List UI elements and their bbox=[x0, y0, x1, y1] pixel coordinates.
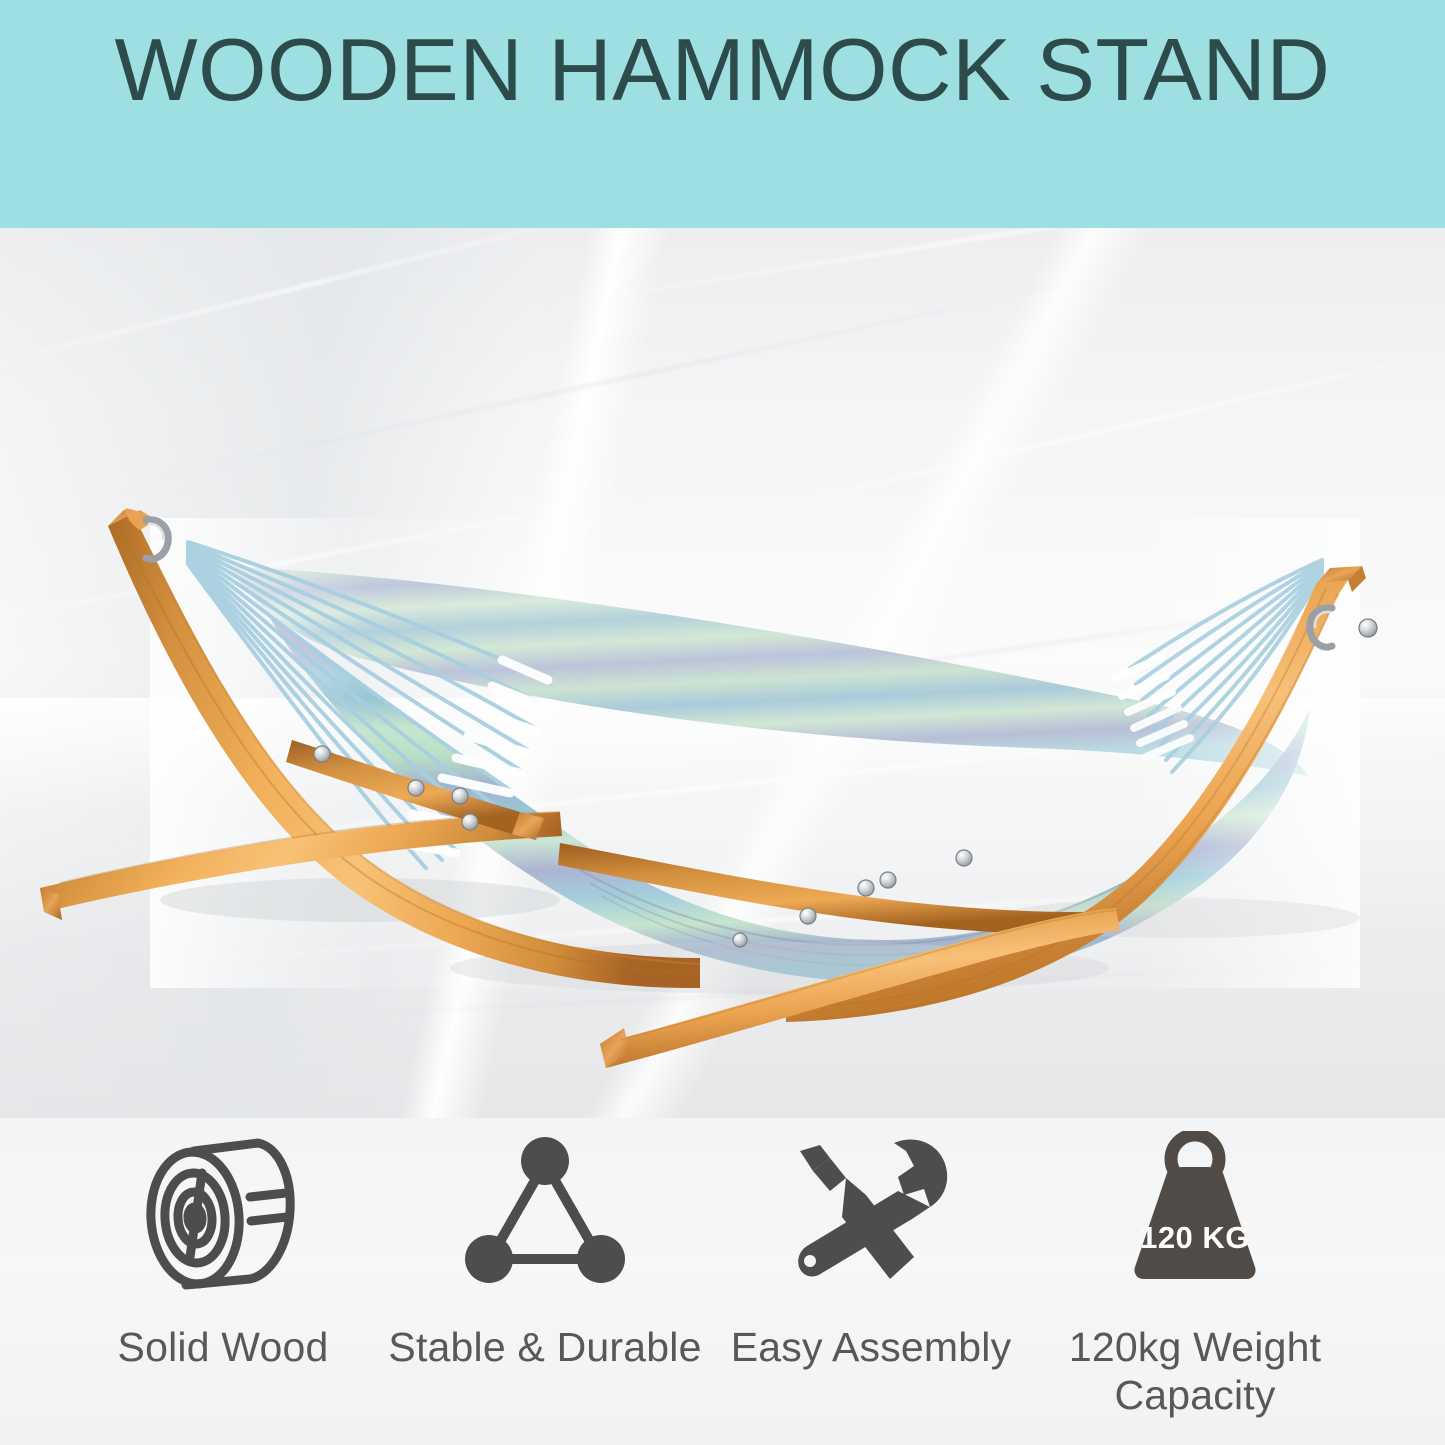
weight-badge-text: 120 KG bbox=[1140, 1220, 1250, 1255]
feature-label: Easy Assembly bbox=[706, 1323, 1036, 1371]
triangle-nodes-icon bbox=[380, 1128, 710, 1298]
feature-item-solid-wood: Solid Wood bbox=[58, 1118, 388, 1445]
feature-label: Solid Wood bbox=[58, 1323, 388, 1371]
wrench-screwdriver-icon bbox=[706, 1128, 1036, 1298]
feature-item-stable-durable: Stable & Durable bbox=[380, 1118, 710, 1445]
header-banner: WOODEN HAMMOCK STAND bbox=[0, 0, 1445, 228]
feature-label: 120kg Weight Capacity bbox=[1030, 1323, 1360, 1420]
product-photo bbox=[0, 228, 1445, 1128]
stand-arc-left bbox=[108, 508, 700, 988]
features-row: Solid Wood Stable & Durable bbox=[0, 1118, 1445, 1445]
feature-label: Stable & Durable bbox=[380, 1323, 710, 1371]
weight-icon: 120 KG bbox=[1030, 1128, 1360, 1298]
page-title: WOODEN HAMMOCK STAND bbox=[0, 24, 1445, 116]
feature-item-weight-capacity: 120 KG 120kg Weight Capacity bbox=[1030, 1118, 1360, 1445]
wooden-stand bbox=[0, 228, 1445, 1128]
infographic-page: WOODEN HAMMOCK STAND bbox=[0, 0, 1445, 1445]
feature-item-easy-assembly: Easy Assembly bbox=[706, 1118, 1036, 1445]
stand-foot-beam-right bbox=[558, 843, 1118, 934]
log-icon bbox=[58, 1128, 388, 1298]
